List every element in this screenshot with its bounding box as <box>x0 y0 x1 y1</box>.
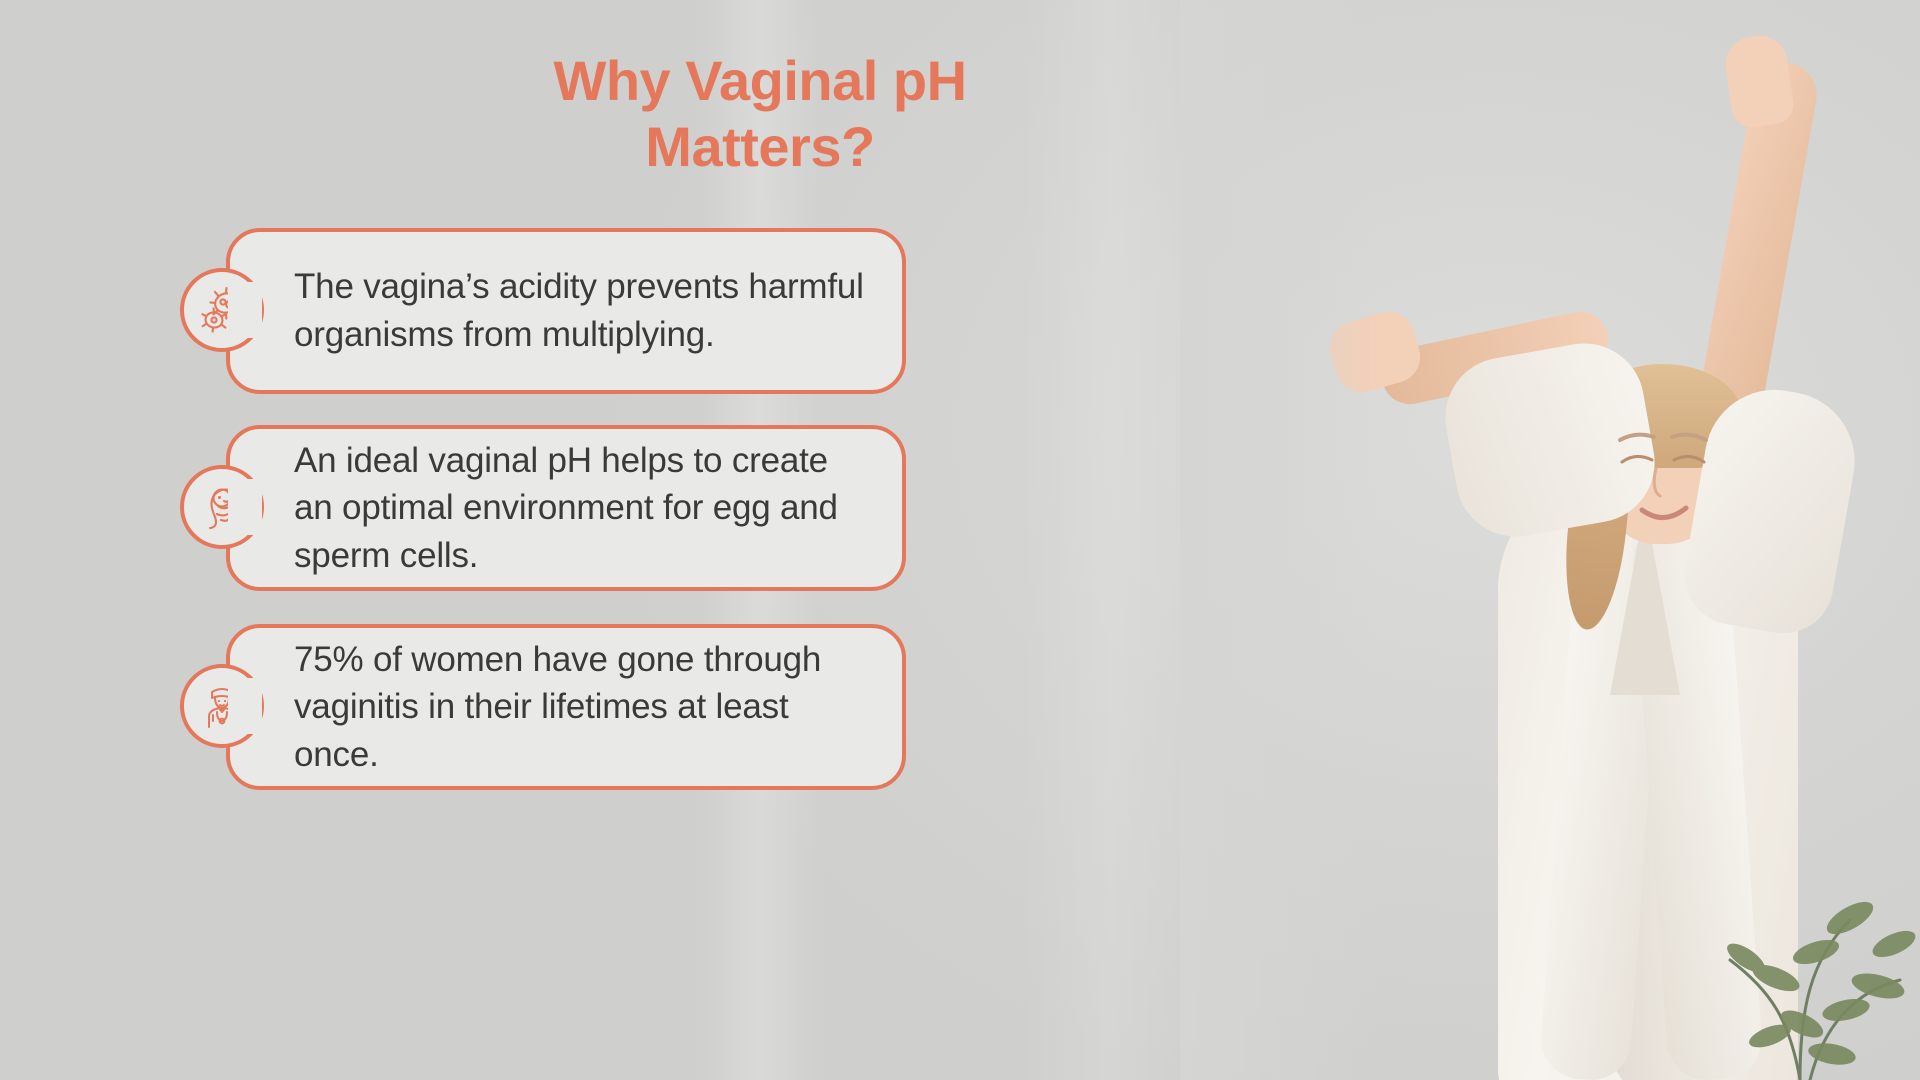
photo-edge-fade <box>1180 0 1380 1080</box>
page-title-line-1: Why Vaginal pH <box>430 48 1090 114</box>
facial-features <box>1594 376 1734 556</box>
left-arm <box>1377 307 1614 410</box>
hair-side <box>1558 428 1637 633</box>
face <box>1594 376 1730 544</box>
hair-top <box>1584 364 1742 468</box>
right-arm <box>1682 58 1821 502</box>
robe-shadow <box>1610 500 1720 1080</box>
left-hand <box>1324 306 1427 399</box>
sleeve-left <box>1436 334 1664 546</box>
robe-lapel-right <box>1631 517 1765 1080</box>
hair-back <box>1576 368 1752 588</box>
sleeve-right <box>1676 379 1865 641</box>
page-title: Why Vaginal pH Matters? <box>430 48 1090 180</box>
robe-lapel-left <box>1539 518 1668 1080</box>
plant-icon <box>1650 840 1920 1080</box>
info-card-text: The vagina’s acidity prevents harmful or… <box>294 263 872 358</box>
page-title-line-2: Matters? <box>430 114 1090 180</box>
bubble-seam <box>228 479 262 535</box>
info-card-text: 75% of women have gone through vaginitis… <box>294 636 872 779</box>
right-hand <box>1722 32 1796 130</box>
woman-stretching-photo <box>1180 0 1920 1080</box>
robe-neckline <box>1610 505 1680 695</box>
bathrobe-torso <box>1498 470 1798 1080</box>
info-card-fertility[interactable]: An ideal vaginal pH helps to create an o… <box>226 425 906 591</box>
info-card-acidity[interactable]: The vagina’s acidity prevents harmful or… <box>226 228 906 394</box>
bubble-seam <box>228 678 262 734</box>
bubble-seam <box>228 282 262 338</box>
info-card-text: An ideal vaginal pH helps to create an o… <box>294 437 872 580</box>
infographic-canvas: Why Vaginal pH Matters? The vagina’s aci… <box>0 0 1920 1080</box>
info-card-vaginitis[interactable]: 75% of women have gone through vaginitis… <box>226 624 906 790</box>
